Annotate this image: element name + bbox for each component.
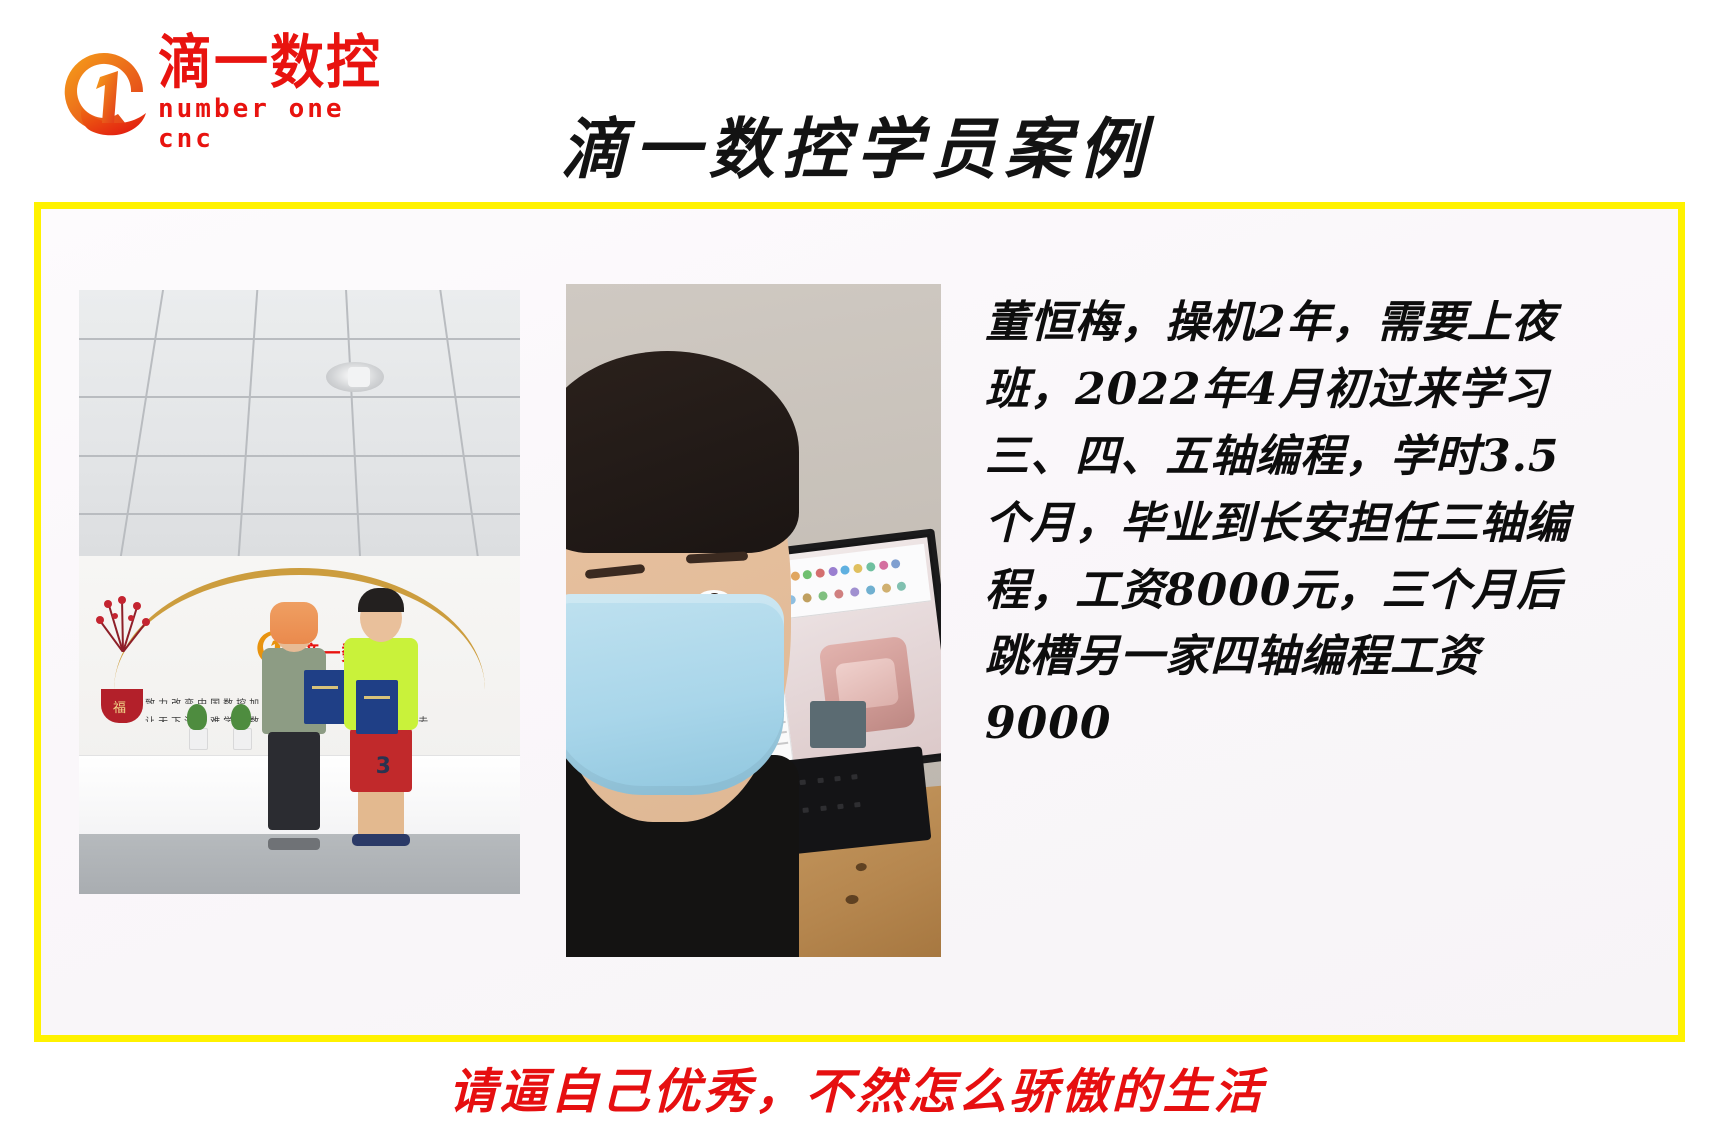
small-plant-pot-2: [233, 728, 252, 750]
certificate-left: [304, 670, 346, 724]
page-title: 滴一数控学员案例: [0, 96, 1713, 192]
red-vase: [101, 689, 143, 723]
graduation-photo: 滴一数控 number one cnc 致力改变中国数控加工行业技术保守现象 让…: [79, 290, 520, 894]
ceiling-light-icon: [326, 362, 384, 392]
person-hair: [566, 351, 799, 553]
small-plant-pot-1: [189, 728, 208, 750]
red-branches-decor: [88, 592, 158, 652]
certificate-right: [356, 680, 398, 734]
cartoon-face-sticker-icon: [270, 602, 318, 644]
footer-slogan: 请逼自己优秀，不然怎么骄傲的生活: [0, 1052, 1713, 1122]
student-story-text: 董恒梅，操机2年，需要上夜班，2022年4月初过来学习三、四、五轴编程，学时3.…: [985, 290, 1585, 758]
brand-name-cn: 滴一数控: [158, 33, 386, 92]
ceiling-tiles: [79, 290, 520, 556]
surgical-mask: [566, 594, 784, 796]
small-plant-leaves-2: [231, 704, 251, 730]
small-plant-leaves-1: [187, 704, 207, 730]
slide-canvas: 滴一数控 number one cnc 滴一数控学员案例 毕业照 工作照: [0, 0, 1713, 1132]
work-photo: [566, 284, 941, 957]
desk-item-box: [810, 701, 866, 748]
